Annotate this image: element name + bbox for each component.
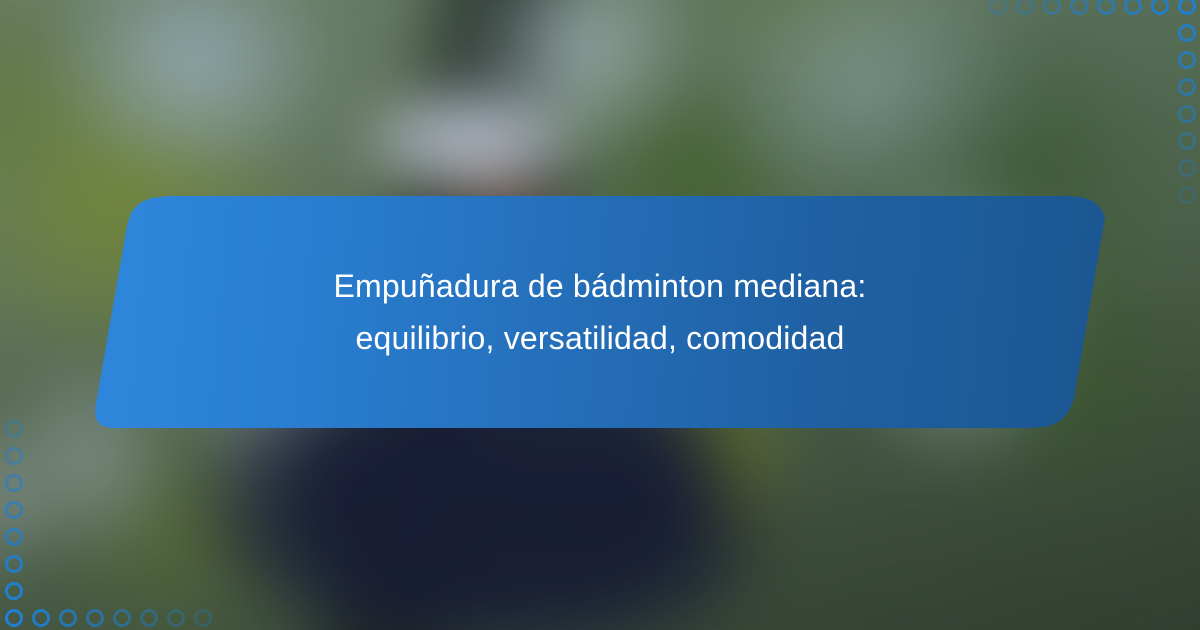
decorative-dot bbox=[1178, 0, 1196, 15]
decorative-dot bbox=[1178, 186, 1196, 204]
decorative-dot bbox=[1097, 0, 1115, 15]
decorative-dots-top-right bbox=[985, 0, 1200, 215]
decorative-dot bbox=[5, 609, 23, 627]
decorative-dot bbox=[5, 420, 23, 438]
decorative-dot bbox=[1016, 0, 1034, 15]
decorative-dot bbox=[167, 609, 185, 627]
decorative-dot bbox=[113, 609, 131, 627]
decorative-dot bbox=[5, 555, 23, 573]
decorative-dot bbox=[1124, 0, 1142, 15]
decorative-dot bbox=[5, 474, 23, 492]
decorative-dot bbox=[1178, 24, 1196, 42]
decorative-dot bbox=[194, 609, 212, 627]
decorative-dot bbox=[5, 501, 23, 519]
decorative-dot bbox=[32, 609, 50, 627]
decorative-dot bbox=[1178, 105, 1196, 123]
decorative-dot bbox=[1178, 78, 1196, 96]
decorative-dots-bottom-left bbox=[0, 415, 215, 630]
decorative-dot bbox=[989, 0, 1007, 15]
decorative-dot bbox=[5, 528, 23, 546]
title-banner: Empuñadura de bádminton mediana: equilib… bbox=[95, 196, 1105, 428]
decorative-dot bbox=[86, 609, 104, 627]
decorative-dot bbox=[1178, 51, 1196, 69]
page-title-line-2: equilibrio, versatilidad, comodidad bbox=[355, 318, 844, 358]
decorative-dot bbox=[1178, 159, 1196, 177]
decorative-dot bbox=[1151, 0, 1169, 15]
decorative-dot bbox=[1070, 0, 1088, 15]
decorative-dot bbox=[1178, 132, 1196, 150]
screenshot-canvas: Empuñadura de bádminton mediana: equilib… bbox=[0, 0, 1200, 630]
title-banner-text-block: Empuñadura de bádminton mediana: equilib… bbox=[95, 196, 1105, 428]
decorative-dot bbox=[140, 609, 158, 627]
page-title-line-1: Empuñadura de bádminton mediana: bbox=[334, 266, 867, 306]
decorative-dot bbox=[5, 582, 23, 600]
decorative-dot bbox=[5, 447, 23, 465]
decorative-dot bbox=[1043, 0, 1061, 15]
decorative-dot bbox=[59, 609, 77, 627]
